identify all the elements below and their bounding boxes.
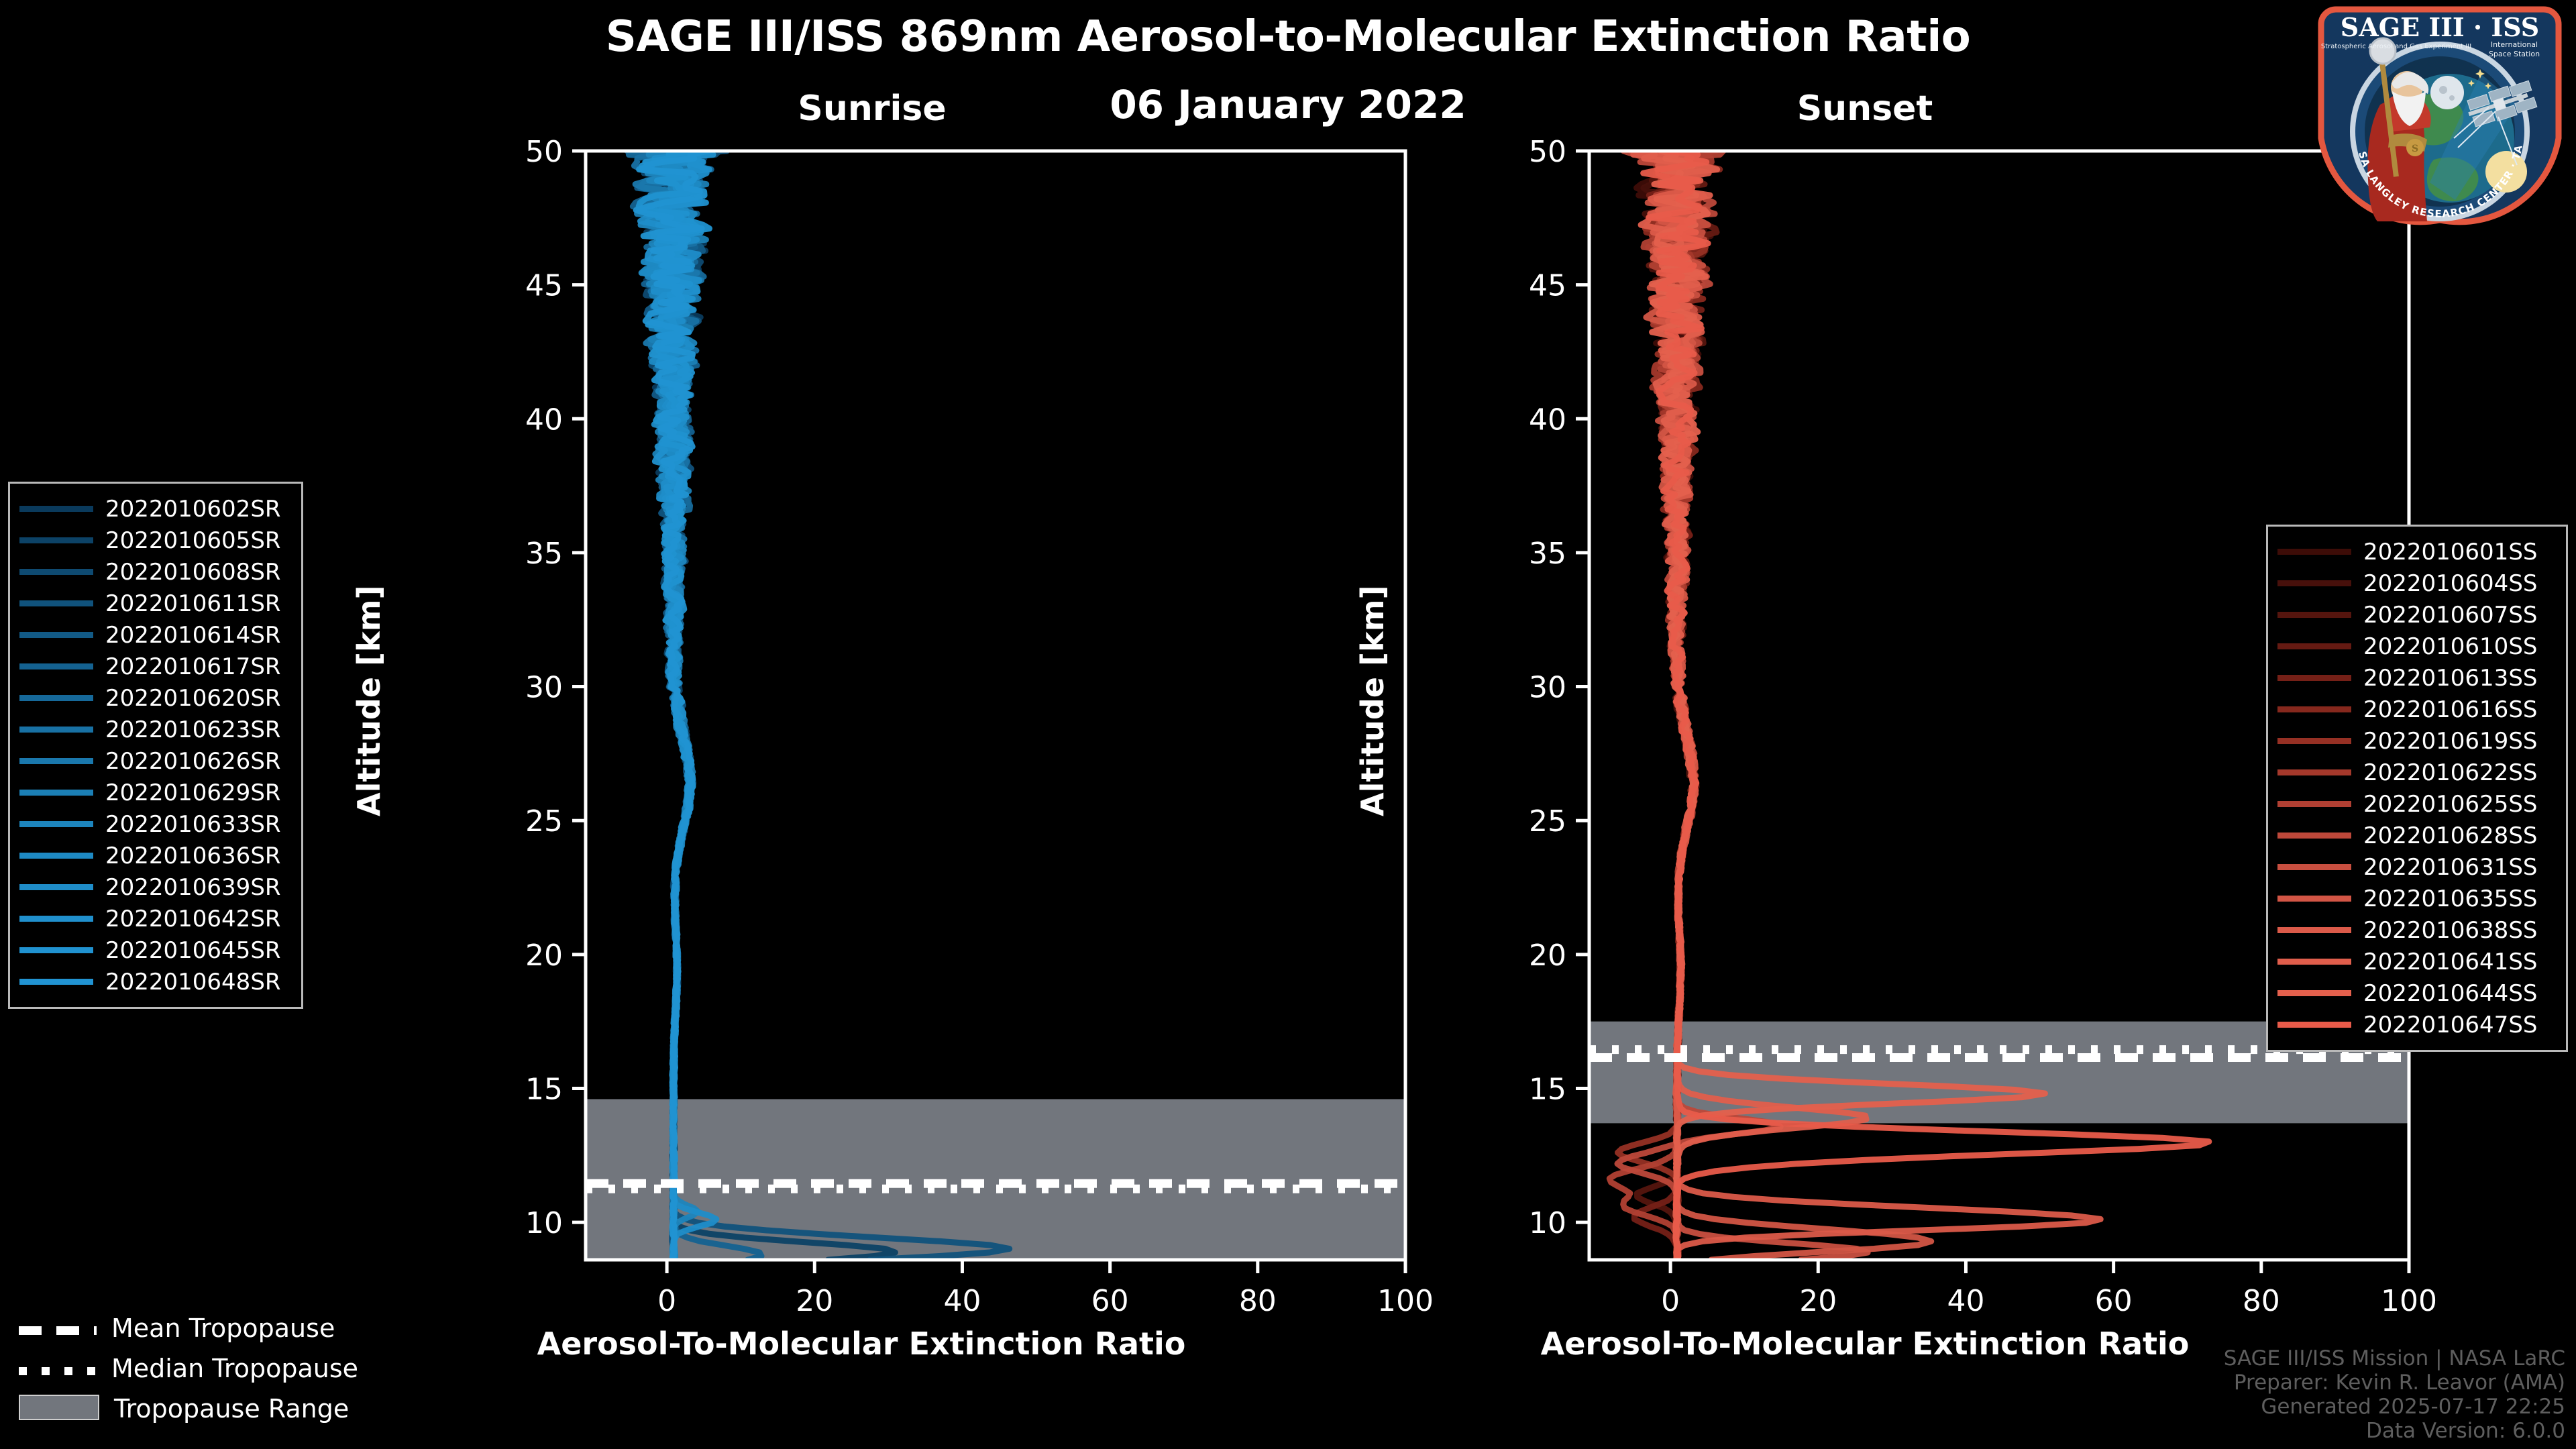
sage-iii-iss-mission-patch-logo: SSAGE III · ISSStratospheric Aerosol and…	[2316, 4, 2564, 225]
x-tick-label: 0	[1661, 1284, 1680, 1318]
legend-item-sunrise-event[interactable]: 2022010629SR	[19, 777, 290, 808]
x-tick-label: 80	[2243, 1284, 2280, 1318]
y-tick-label: 35	[1529, 537, 1566, 571]
credits-line-mission: SAGE III/ISS Mission | NASA LaRC	[2224, 1347, 2565, 1371]
legend-color-swatch	[19, 853, 93, 859]
legend-item-label: 2022010613SS	[2363, 665, 2537, 692]
legend-color-swatch	[19, 632, 93, 638]
y-tick-label: 40	[1529, 402, 1566, 437]
chart-panel-sunset: 101520253035404550020406080100Altitude […	[1455, 144, 2275, 1253]
legend-color-swatch	[19, 790, 93, 796]
credits-line-version: Data Version: 6.0.0	[2224, 1419, 2565, 1444]
legend-color-swatch	[2277, 1022, 2351, 1028]
x-tick-label: 100	[1377, 1284, 1434, 1318]
legend-color-swatch	[19, 916, 93, 922]
legend-item-sunset-event[interactable]: 2022010613SS	[2277, 662, 2555, 694]
legend-color-swatch	[19, 821, 93, 827]
chart-panel-sunrise: 101520253035404550020406080100Altitude […	[451, 144, 1271, 1253]
legend-item-label: 2022010620SR	[105, 685, 281, 712]
legend-item-sunset-event[interactable]: 2022010622SS	[2277, 757, 2555, 788]
svg-text:Stratospheric Aerosol and Gas: Stratospheric Aerosol and Gas Experiment…	[2321, 43, 2471, 50]
legend-color-swatch	[19, 884, 93, 890]
legend-item-label: 2022010629SR	[105, 780, 281, 806]
legend-item-label: 2022010616SS	[2363, 696, 2537, 723]
legend-item-sunrise-event[interactable]: 2022010642SR	[19, 903, 290, 934]
legend-color-swatch	[2277, 580, 2351, 586]
y-tick-label: 20	[525, 938, 563, 973]
legend-color-swatch	[19, 979, 93, 985]
legend-color-swatch	[19, 947, 93, 953]
legend-color-swatch	[2277, 738, 2351, 744]
legend-item-label: Tropopause Range	[114, 1394, 349, 1424]
legend-item-label: 2022010641SS	[2363, 949, 2537, 975]
legend-item-sunset-event[interactable]: 2022010635SS	[2277, 883, 2555, 914]
legend-item-sunset-event[interactable]: 2022010625SS	[2277, 788, 2555, 820]
legend-item-label: 2022010648SR	[105, 969, 281, 996]
legend-color-swatch	[19, 663, 93, 669]
legend-item-sunset-event[interactable]: 2022010616SS	[2277, 694, 2555, 725]
y-tick-label: 15	[525, 1072, 563, 1106]
legend-color-swatch	[2277, 801, 2351, 807]
svg-text:SAGE III · ISS: SAGE III · ISS	[2341, 12, 2539, 42]
legend-item-sunrise-event[interactable]: 2022010648SR	[19, 966, 290, 998]
legend-color-swatch	[19, 537, 93, 543]
legend-item-sunset-event[interactable]: 2022010631SS	[2277, 851, 2555, 883]
credits-line-generated: Generated 2025-07-17 22:25	[2224, 1395, 2565, 1419]
x-tick-label: 40	[943, 1284, 981, 1318]
svg-text:S: S	[2412, 144, 2418, 154]
legend-item-sunrise-event[interactable]: 2022010605SR	[19, 525, 290, 556]
legend-item-sunrise-event[interactable]: 2022010639SR	[19, 871, 290, 903]
legend-item-label: 2022010608SR	[105, 559, 281, 586]
legend-item-label: Median Tropopause	[111, 1354, 358, 1383]
legend-color-swatch	[2277, 675, 2351, 681]
plot-area-sunrise: 101520253035404550020406080100	[451, 144, 1446, 1387]
page-title: SAGE III/ISS 869nm Aerosol-to-Molecular …	[0, 12, 2576, 62]
legend-sunrise[interactable]: 2022010602SR2022010605SR2022010608SR2022…	[8, 482, 303, 1009]
y-tick-label: 30	[1529, 671, 1566, 705]
y-tick-label: 25	[1529, 804, 1566, 839]
legend-item-label: 2022010644SS	[2363, 980, 2537, 1007]
legend-color-swatch	[19, 569, 93, 575]
svg-text:Space Station: Space Station	[2489, 50, 2540, 58]
legend-color-swatch	[19, 600, 93, 606]
y-tick-label: 35	[525, 537, 563, 571]
legend-item-sunset-event[interactable]: 2022010641SS	[2277, 946, 2555, 977]
median-tropopause-dot-icon	[19, 1367, 97, 1375]
x-tick-label: 20	[796, 1284, 833, 1318]
legend-item-sunrise-event[interactable]: 2022010636SR	[19, 840, 290, 871]
panel-caption-sunset: Sunset	[1664, 89, 2066, 129]
legend-item-sunrise-event[interactable]: 2022010614SR	[19, 619, 290, 651]
legend-color-swatch	[19, 695, 93, 701]
legend-item-label: 2022010601SS	[2363, 539, 2537, 566]
y-tick-label: 20	[1529, 938, 1566, 973]
svg-text:International: International	[2491, 40, 2538, 49]
legend-item-sunrise-event[interactable]: 2022010617SR	[19, 651, 290, 682]
y-tick-label: 10	[525, 1206, 563, 1240]
legend-item-label: 2022010602SR	[105, 496, 281, 523]
date-title: 06 January 2022	[0, 82, 2576, 127]
y-axis-label: Altitude [km]	[351, 585, 387, 816]
legend-item-label: 2022010605SR	[105, 527, 281, 554]
legend-item-sunrise-event[interactable]: 2022010626SR	[19, 745, 290, 777]
mean-tropopause-dash-icon	[19, 1326, 97, 1335]
legend-color-swatch	[2277, 896, 2351, 902]
legend-item-label: 2022010626SR	[105, 748, 281, 775]
legend-color-swatch	[2277, 990, 2351, 996]
legend-color-swatch	[2277, 643, 2351, 649]
credits-block: SAGE III/ISS Mission | NASA LaRC Prepare…	[2224, 1347, 2565, 1444]
y-tick-label: 25	[525, 804, 563, 839]
legend-item-label: 2022010614SR	[105, 622, 281, 649]
legend-item-label: 2022010635SS	[2363, 885, 2537, 912]
legend-item-label: 2022010607SS	[2363, 602, 2537, 629]
legend-item-label: 2022010604SS	[2363, 570, 2537, 597]
y-tick-label: 30	[525, 671, 563, 705]
legend-color-swatch	[2277, 549, 2351, 555]
x-tick-label: 100	[2381, 1284, 2437, 1318]
y-tick-label: 40	[525, 402, 563, 437]
legend-item-label: Mean Tropopause	[111, 1313, 335, 1343]
x-tick-label: 80	[1239, 1284, 1277, 1318]
legend-item-label: 2022010619SS	[2363, 728, 2537, 755]
legend-item-sunset-event[interactable]: 2022010644SS	[2277, 977, 2555, 1009]
legend-color-swatch	[2277, 833, 2351, 839]
legend-item-label: 2022010639SR	[105, 874, 281, 901]
panel-caption-sunrise: Sunrise	[671, 89, 1073, 129]
legend-item-label: 2022010610SS	[2363, 633, 2537, 660]
legend-item-label: 2022010625SS	[2363, 791, 2537, 818]
y-tick-label: 45	[1529, 269, 1566, 303]
x-tick-label: 20	[1799, 1284, 1837, 1318]
legend-color-swatch	[2277, 706, 2351, 712]
legend-color-swatch	[19, 727, 93, 733]
legend-item-sunset-event[interactable]: 2022010638SS	[2277, 914, 2555, 946]
legend-color-swatch	[2277, 612, 2351, 618]
y-tick-label: 50	[525, 135, 563, 169]
legend-item-sunset-event[interactable]: 2022010607SS	[2277, 599, 2555, 631]
legend-item-sunset-event[interactable]: 2022010604SS	[2277, 568, 2555, 599]
legend-item-sunset-event[interactable]: 2022010601SS	[2277, 536, 2555, 568]
x-tick-label: 40	[1947, 1284, 1984, 1318]
legend-item-label: 2022010628SS	[2363, 822, 2537, 849]
legend-color-swatch	[19, 758, 93, 764]
x-axis-label: Aerosol-To-Molecular Extinction Ratio	[451, 1326, 1271, 1362]
x-tick-label: 60	[2095, 1284, 2133, 1318]
credits-line-preparer: Preparer: Kevin R. Leavor (AMA)	[2224, 1371, 2565, 1395]
legend-item-sunset-event[interactable]: 2022010628SS	[2277, 820, 2555, 851]
legend-item-sunset-event[interactable]: 2022010610SS	[2277, 631, 2555, 662]
figure-root: SAGE III/ISS 869nm Aerosol-to-Molecular …	[0, 0, 2576, 1449]
legend-item-sunrise-event[interactable]: 2022010608SR	[19, 556, 290, 588]
legend-item-mean-tropopause: Mean Tropopause	[19, 1308, 435, 1348]
tropopause-range-box-icon	[19, 1395, 99, 1420]
legend-color-swatch	[19, 506, 93, 512]
legend-item-median-tropopause: Median Tropopause	[19, 1348, 435, 1389]
legend-item-sunrise-event[interactable]: 2022010645SR	[19, 934, 290, 966]
legend-item-label: 2022010633SR	[105, 811, 281, 838]
legend-color-swatch	[2277, 769, 2351, 775]
y-tick-label: 15	[1529, 1072, 1566, 1106]
x-tick-label: 60	[1091, 1284, 1129, 1318]
legend-item-sunrise-event[interactable]: 2022010633SR	[19, 808, 290, 840]
legend-item-label: 2022010645SR	[105, 937, 281, 964]
x-tick-label: 0	[657, 1284, 676, 1318]
legend-item-sunrise-event[interactable]: 2022010602SR	[19, 493, 290, 525]
legend-tropopause: Mean Tropopause Median Tropopause Tropop…	[19, 1308, 435, 1429]
legend-item-sunrise-event[interactable]: 2022010623SR	[19, 714, 290, 745]
legend-item-tropopause-range: Tropopause Range	[19, 1389, 435, 1429]
legend-item-label: 2022010647SS	[2363, 1012, 2537, 1038]
y-tick-label: 50	[1529, 135, 1566, 169]
legend-item-sunrise-event[interactable]: 2022010611SR	[19, 588, 290, 619]
y-tick-label: 10	[1529, 1206, 1566, 1240]
legend-item-label: 2022010622SS	[2363, 759, 2537, 786]
legend-item-label: 2022010638SS	[2363, 917, 2537, 944]
y-tick-label: 45	[525, 269, 563, 303]
legend-item-label: 2022010636SR	[105, 843, 281, 869]
legend-sunset[interactable]: 2022010601SS2022010604SS2022010607SS2022…	[2266, 525, 2568, 1052]
legend-item-sunrise-event[interactable]: 2022010620SR	[19, 682, 290, 714]
x-axis-label: Aerosol-To-Molecular Extinction Ratio	[1455, 1326, 2275, 1362]
legend-color-swatch	[2277, 959, 2351, 965]
legend-item-label: 2022010623SR	[105, 716, 281, 743]
legend-item-sunset-event[interactable]: 2022010647SS	[2277, 1009, 2555, 1040]
legend-item-label: 2022010611SR	[105, 590, 281, 617]
legend-color-swatch	[2277, 864, 2351, 870]
legend-item-label: 2022010617SR	[105, 653, 281, 680]
legend-color-swatch	[2277, 927, 2351, 933]
legend-item-label: 2022010631SS	[2363, 854, 2537, 881]
legend-item-sunset-event[interactable]: 2022010619SS	[2277, 725, 2555, 757]
legend-item-label: 2022010642SR	[105, 906, 281, 932]
y-axis-label: Altitude [km]	[1354, 585, 1391, 816]
